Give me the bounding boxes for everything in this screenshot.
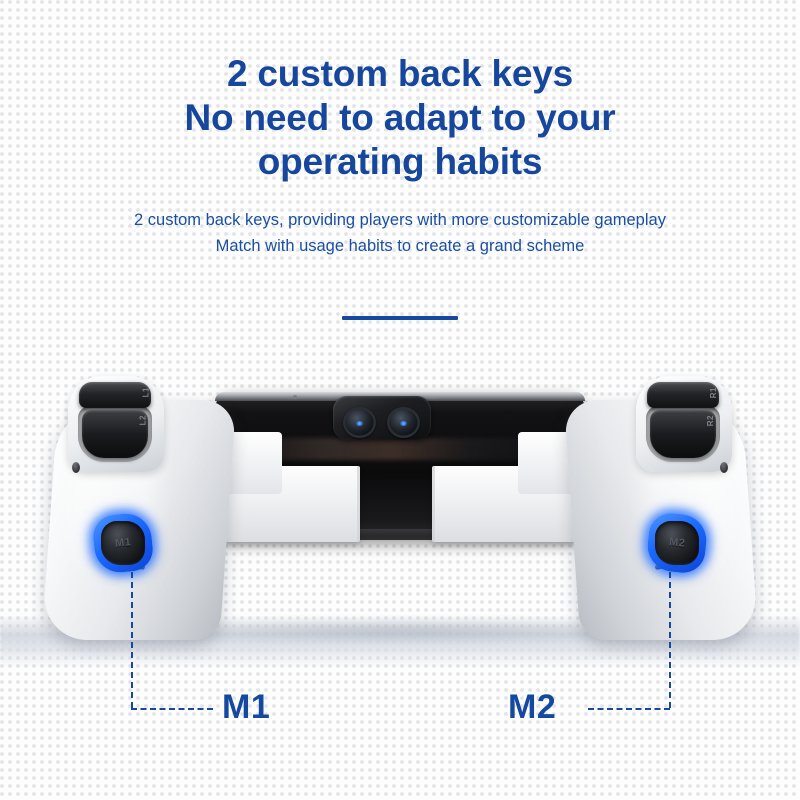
headline-line-2: No need to adapt to your <box>0 96 800 140</box>
callout-line-m1-horizontal <box>131 708 213 710</box>
grip-vent-hole-left <box>72 462 80 473</box>
phone-sensor-dot <box>293 395 297 399</box>
back-key-cap: M2 <box>655 521 699 565</box>
callout-label-m1: M1 <box>222 690 270 724</box>
callout-line-m2-vertical <box>669 572 671 708</box>
camera-lens-icon <box>387 407 420 438</box>
shoulder-button-l2[interactable]: L2 <box>82 410 148 458</box>
grip-vent-hole-right <box>720 462 728 473</box>
callout-label-m2: M2 <box>508 690 556 724</box>
bridge-edge <box>357 466 360 542</box>
back-key-cap: M1 <box>101 521 145 565</box>
product-image-stage: L1 L2 M1 <box>0 370 800 700</box>
shoulder-button-r1[interactable]: R1 <box>647 382 719 408</box>
callout-line-m2-horizontal <box>588 708 670 710</box>
bridge-edge <box>432 466 435 542</box>
product-feature-banner: 2 custom back keys No need to adapt to y… <box>0 0 800 800</box>
shoulder-button-r1-label: R1 <box>709 387 718 398</box>
page-title: 2 custom back keys No need to adapt to y… <box>0 52 800 184</box>
back-key-m2-engraving: M2 <box>668 536 685 550</box>
shoulder-button-l2-label: L2 <box>138 415 147 425</box>
shoulder-button-l1-label: L1 <box>141 387 150 397</box>
back-key-m1[interactable]: M1 <box>94 514 152 572</box>
shoulder-button-r2[interactable]: R2 <box>650 410 716 458</box>
shoulder-housing-right: R1 R2 <box>636 376 732 472</box>
shoulder-housing-left: L1 L2 <box>68 376 164 472</box>
back-key-m1-engraving: M1 <box>114 536 131 550</box>
controller-grip-right: R1 R2 M2 <box>540 376 750 644</box>
headline-line-3: operating habits <box>0 140 800 184</box>
subtitle-line-1: 2 custom back keys, providing players wi… <box>0 207 800 233</box>
camera-lens-icon <box>343 407 376 438</box>
camera-module <box>333 396 431 440</box>
controller-grip-left: L1 L2 M1 <box>50 376 260 644</box>
subtitle-line-2: Match with usage habits to create a gran… <box>0 233 800 259</box>
shoulder-button-l1[interactable]: L1 <box>79 382 151 408</box>
shoulder-button-r2-label: R2 <box>706 415 715 426</box>
section-divider <box>342 316 458 320</box>
subtitle: 2 custom back keys, providing players wi… <box>0 207 800 259</box>
back-key-m2[interactable]: M2 <box>648 514 706 572</box>
headline-line-1: 2 custom back keys <box>0 52 800 96</box>
callout-line-m1-vertical <box>131 572 133 708</box>
